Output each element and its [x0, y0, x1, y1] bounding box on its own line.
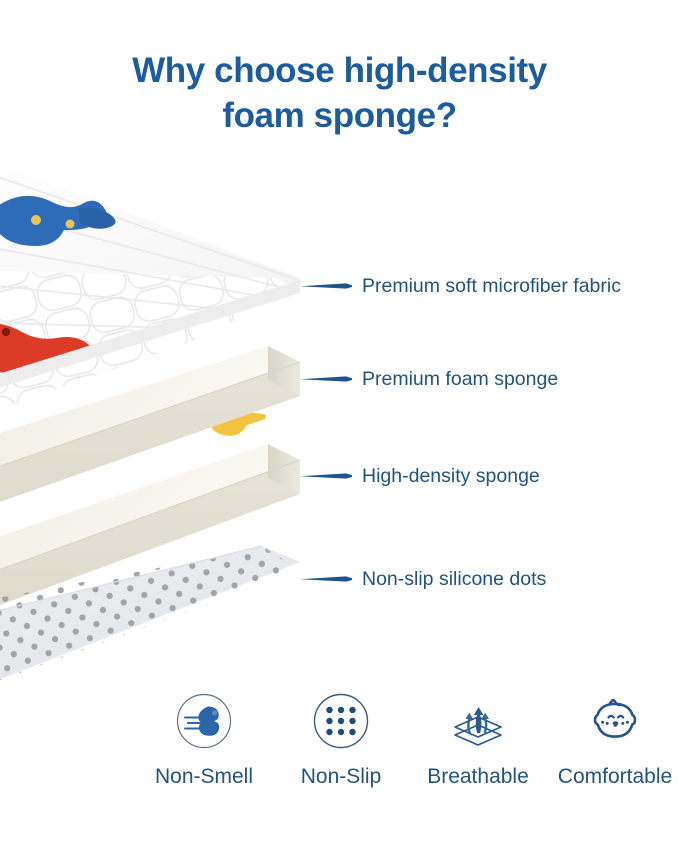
- smell-waves-icon: [173, 690, 235, 752]
- feature-non-smell: Non-Smell: [140, 690, 268, 790]
- callout-label: Premium soft microfiber fabric: [362, 273, 621, 299]
- feature-label: Non-Slip: [301, 764, 382, 790]
- callout-label: Premium foam sponge: [362, 366, 558, 392]
- page-title: Why choose high-density foam sponge?: [0, 48, 679, 138]
- callout-label: Non-slip silicone dots: [362, 566, 546, 592]
- leader-line-icon: [300, 472, 352, 480]
- page-title-line-1: Why choose high-density: [0, 48, 679, 93]
- leader-line-icon: [300, 282, 352, 290]
- feature-label: Non-Smell: [155, 764, 253, 790]
- callout-non-slip-silicone-dots: Non-slip silicone dots: [300, 566, 546, 592]
- callout-premium-foam-sponge: Premium foam sponge: [300, 366, 558, 392]
- callout-high-density-sponge: High-density sponge: [300, 463, 540, 489]
- feature-breathable: Breathable: [414, 690, 542, 790]
- feature-badge-row: Non-Smell Non-Slip: [140, 690, 679, 805]
- callout-microfiber-fabric: Premium soft microfiber fabric: [300, 273, 621, 299]
- baby-face-icon: [584, 690, 646, 752]
- page-title-line-2: foam sponge?: [0, 93, 679, 138]
- dot-grid-icon: [310, 690, 372, 752]
- leader-line-icon: [300, 575, 352, 583]
- feature-comfortable: Comfortable: [551, 690, 679, 790]
- feature-non-slip: Non-Slip: [277, 690, 405, 790]
- exploded-mattress-layers-illustration: [0, 150, 340, 695]
- airflow-layers-icon: [447, 690, 509, 752]
- leader-line-icon: [300, 375, 352, 383]
- feature-label: Breathable: [427, 764, 529, 790]
- feature-label: Comfortable: [558, 764, 672, 790]
- callout-label: High-density sponge: [362, 463, 540, 489]
